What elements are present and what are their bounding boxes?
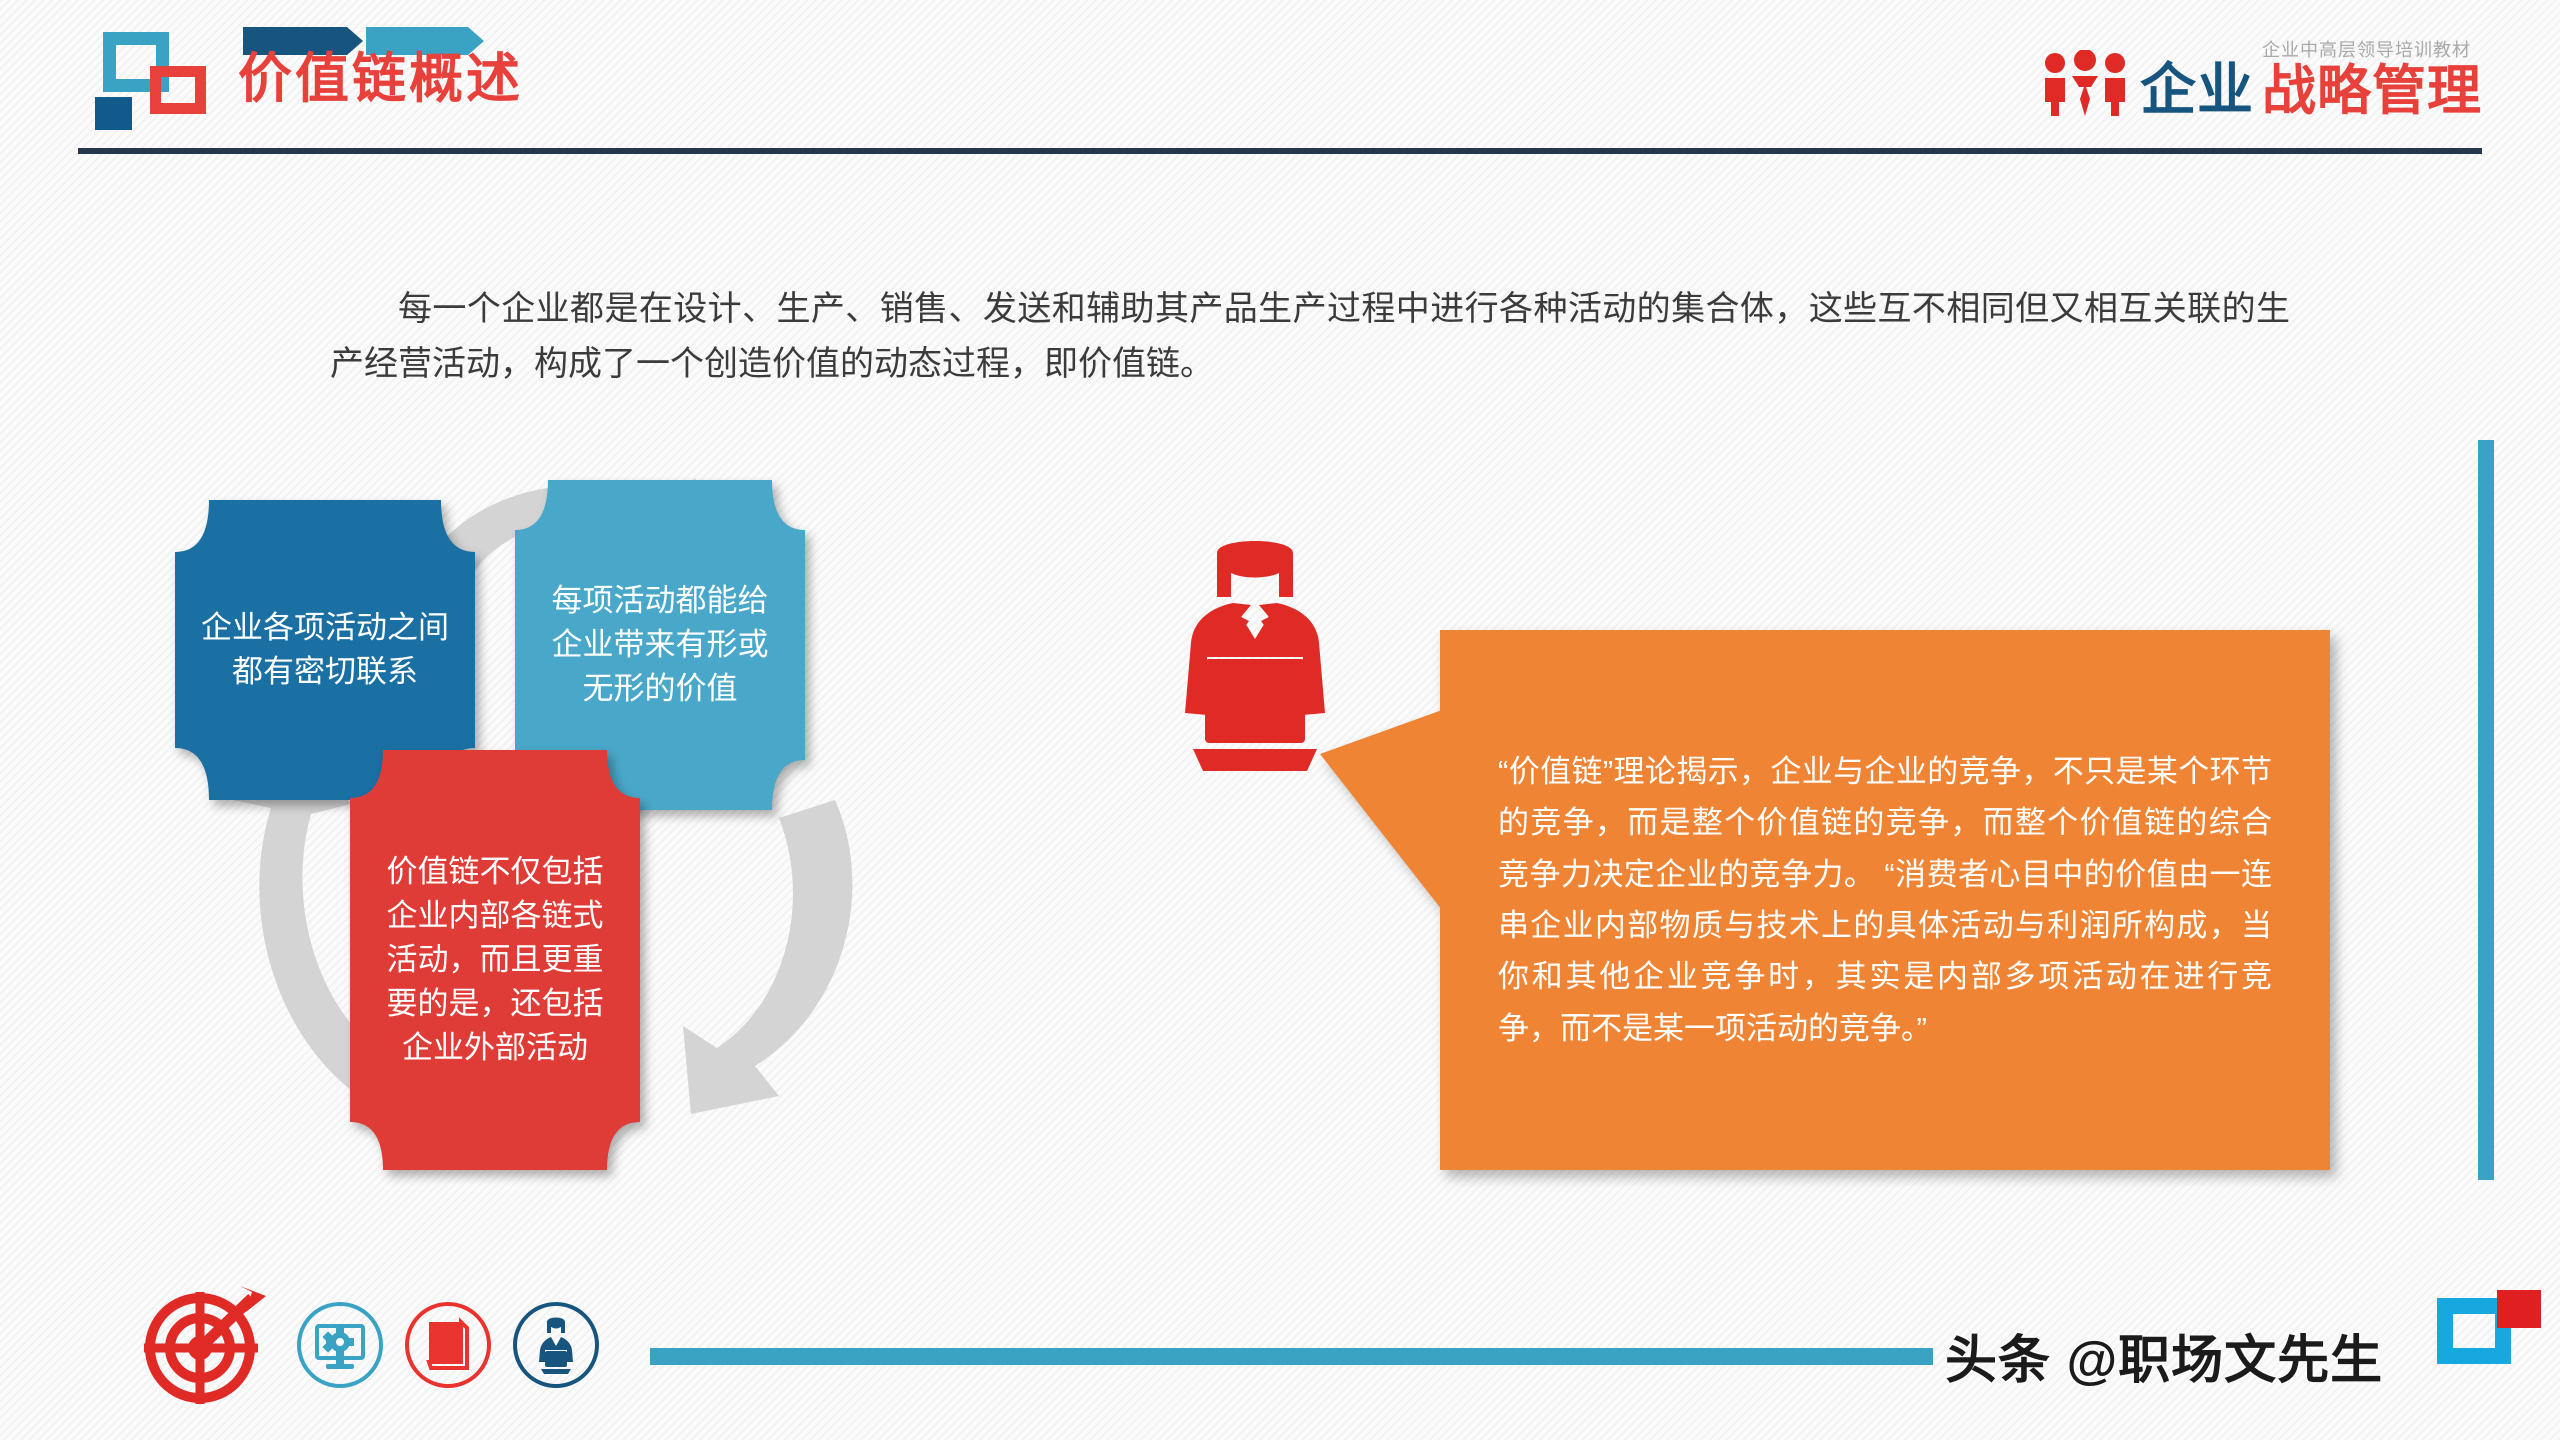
three-people-icon <box>2042 50 2128 116</box>
watermark-square-logo-icon <box>2437 1290 2541 1376</box>
cycle-card-b-text: 每项活动都能给企业带来有形或无形的价值 <box>515 579 805 711</box>
person-at-laptop-icon <box>1155 535 1355 785</box>
slide-header: 价值链概述 企业 企业中高层领导培训教材 战略管理 <box>0 0 2560 160</box>
watermark-square-red <box>2497 1290 2541 1328</box>
logo-square-navy <box>95 97 132 130</box>
slide-canvas: 价值链概述 企业 企业中高层领导培训教材 战略管理 每一个企业都是在设计、生产、 <box>0 0 2560 1440</box>
cycle-card-c-text: 价值链不仅包括企业内部各链式活动，而且更重要的是，还包括企业外部活动 <box>350 850 640 1070</box>
brand-lockup: 企业 企业中高层领导培训教材 战略管理 <box>2042 38 2482 118</box>
page-title: 价值链概述 <box>238 52 523 106</box>
right-accent-bar <box>2478 440 2494 1180</box>
brand-main-text: 企业 <box>2140 62 2254 118</box>
brand-subtitle: 企业中高层领导培训教材 <box>2262 40 2471 62</box>
logo-square-red <box>150 66 206 114</box>
brand-accent-text: 战略管理 <box>2262 64 2482 118</box>
footer-accent-bar <box>650 1348 1933 1365</box>
intro-paragraph: 每一个企业都是在设计、生产、销售、发送和辅助其产品生产过程中进行各种活动的集合体… <box>330 282 2290 392</box>
quote-callout: “价值链”理论揭示，企业与企业的竞争，不只是某个环节的竞争，而是整个价值链的竞争… <box>1440 630 2330 1170</box>
cycle-card-c: 价值链不仅包括企业内部各链式活动，而且更重要的是，还包括企业外部活动 <box>350 750 640 1170</box>
watermark-text: 头条 @职场文先生 <box>1945 1318 2383 1393</box>
callout-body: “价值链”理论揭示，企业与企业的竞争，不只是某个环节的竞争，而是整个价值链的竞争… <box>1440 630 2330 1170</box>
person-at-laptop-circle-icon <box>511 1300 601 1390</box>
book-icon <box>403 1300 493 1390</box>
cycle-card-a-text: 企业各项活动之间都有密切联系 <box>175 606 475 694</box>
header-divider <box>78 148 2482 154</box>
overlapping-squares-logo-icon <box>95 32 245 137</box>
target-dart-icon <box>140 1278 270 1408</box>
value-chain-cycle-diagram: 企业各项活动之间都有密切联系 每项活动都能给企业带来有形或无形的价值 价值链不仅… <box>175 470 1005 1210</box>
callout-text: “价值链”理论揭示，企业与企业的竞争，不只是某个环节的竞争，而是整个价值链的竞争… <box>1440 746 2330 1055</box>
monitor-gear-icon <box>295 1300 385 1390</box>
